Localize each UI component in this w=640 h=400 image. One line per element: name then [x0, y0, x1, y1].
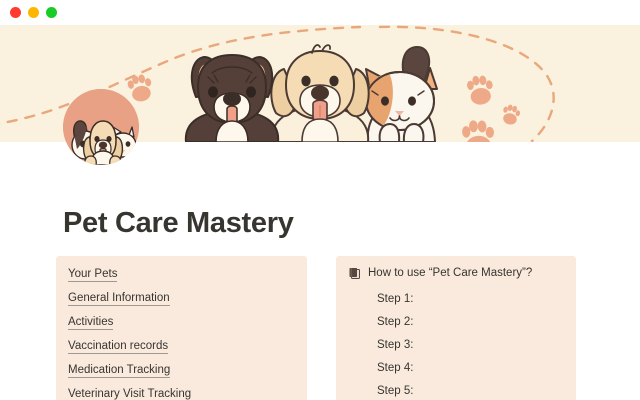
french-bulldog-illustration	[186, 55, 278, 142]
step-label: Step 5:	[377, 383, 413, 400]
page-title: Pet Care Mastery	[63, 205, 294, 241]
link-label: Activities	[68, 316, 113, 330]
link-label: Veterinary Visit Tracking	[68, 388, 191, 400]
maximize-window-button[interactable]	[46, 7, 57, 18]
toggle-step-4[interactable]: Step 4:	[336, 357, 576, 380]
close-window-button[interactable]	[10, 7, 21, 18]
link-label: General Information	[68, 292, 170, 306]
toggle-step-1[interactable]: Step 1:	[336, 288, 576, 311]
link-activities[interactable]: Activities	[56, 311, 307, 335]
link-medication-tracking[interactable]: Medication Tracking	[56, 359, 307, 383]
step-label: Step 4:	[377, 360, 413, 377]
link-label: Your Pets	[68, 268, 117, 282]
link-veterinary-visit-tracking[interactable]: Veterinary Visit Tracking	[56, 383, 307, 400]
toggle-step-3[interactable]: Step 3:	[336, 334, 576, 357]
content-columns: Your Pets General Information Activities…	[0, 256, 640, 400]
toggle-step-5[interactable]: Step 5:	[336, 380, 576, 400]
step-label: Step 1:	[377, 291, 413, 308]
avatar[interactable]	[63, 89, 139, 165]
title-bar	[0, 0, 640, 25]
link-label: Medication Tracking	[68, 364, 170, 378]
app-window: Pet Care Mastery Your Pets General Infor…	[0, 0, 640, 400]
link-label: Vaccination records	[68, 340, 168, 354]
books-icon	[348, 267, 361, 285]
minimize-window-button[interactable]	[28, 7, 39, 18]
pets-avatar-icon	[63, 89, 139, 165]
step-label: Step 3:	[377, 337, 413, 354]
how-to-use-heading-row: How to use “Pet Care Mastery”?	[336, 263, 576, 288]
link-your-pets[interactable]: Your Pets	[56, 263, 307, 287]
step-label: Step 2:	[377, 314, 413, 331]
window-controls	[10, 7, 57, 18]
toggle-step-2[interactable]: Step 2:	[336, 311, 576, 334]
how-to-use-heading: How to use “Pet Care Mastery”?	[368, 265, 532, 282]
link-vaccination-records[interactable]: Vaccination records	[56, 335, 307, 359]
how-to-use-panel: How to use “Pet Care Mastery”? Step 1: S…	[336, 256, 576, 400]
navigation-links-panel: Your Pets General Information Activities…	[56, 256, 307, 400]
link-general-information[interactable]: General Information	[56, 287, 307, 311]
